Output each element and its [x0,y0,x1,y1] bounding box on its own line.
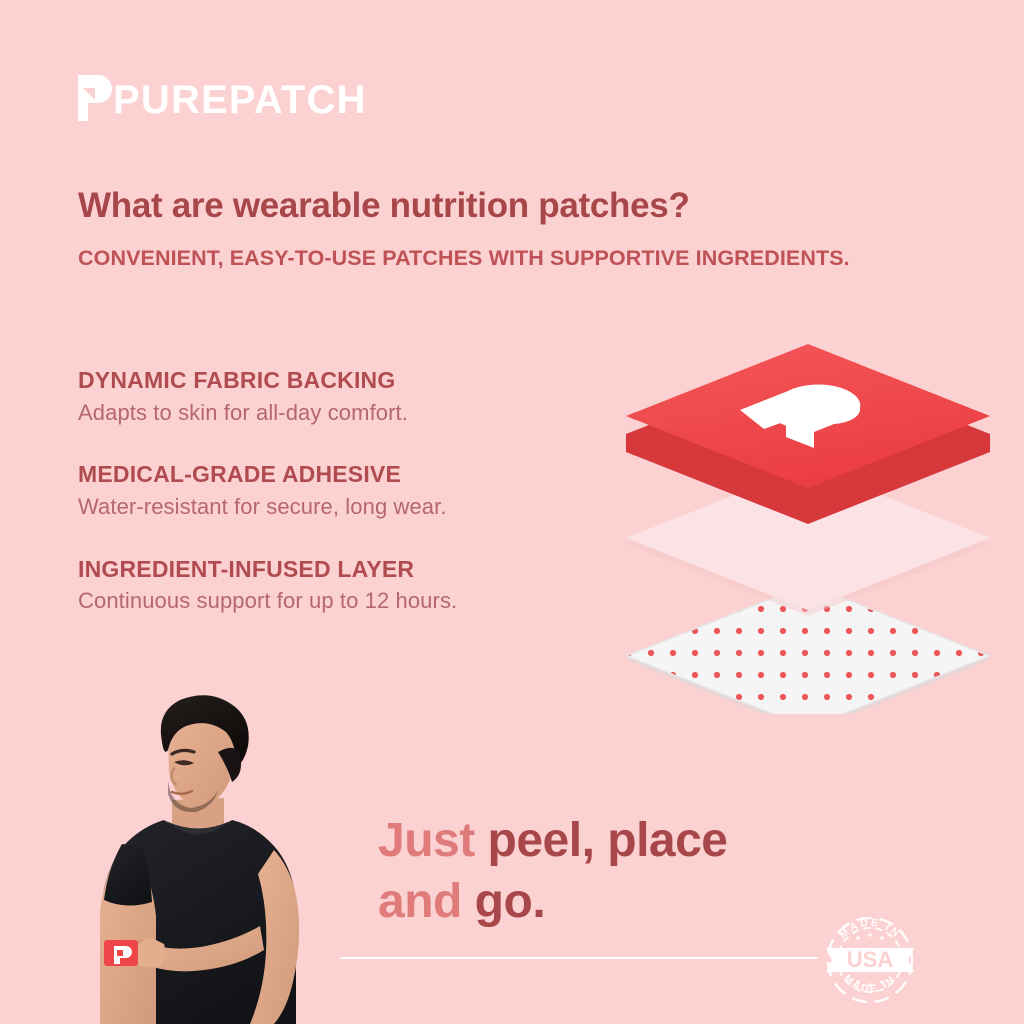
feature-description: Water-resistant for secure, long wear. [78,493,598,522]
tagline-go: go. [475,875,545,928]
infographic-canvas: PUREPATCH What are wearable nutrition pa… [0,0,1024,1024]
feature-description: Continuous support for up to 12 hours. [78,587,598,616]
page-title: What are wearable nutrition patches? [78,186,690,225]
p-notch-icon [78,75,112,126]
fabric-backing-layer [626,344,990,524]
lifestyle-photo [68,694,368,1024]
badge-bottom-text: MADE IN [841,972,898,995]
exploded-patch-layers [618,334,1008,714]
made-in-usa-badge: USA MADE IN MADE IN [818,908,922,1012]
page-subtitle: CONVENIENT, EASY-TO-USE PATCHES WITH SUP… [78,246,850,272]
feature-list: DYNAMIC FABRIC BACKING Adapts to skin fo… [78,366,598,616]
feature-description: Adapts to skin for all-day comfort. [78,399,598,428]
feature-title: INGREDIENT-INFUSED LAYER [78,555,598,584]
tagline-line-2: and go. [378,871,728,932]
brand-name: PUREPATCH [113,80,367,120]
list-item: INGREDIENT-INFUSED LAYER Continuous supp… [78,555,598,616]
patch-on-arm [104,940,138,966]
list-item: MEDICAL-GRADE ADHESIVE Water-resistant f… [78,460,598,521]
divider [340,957,818,959]
tagline-peel-place: peel, place [488,814,728,867]
brand-logo: PUREPATCH [78,76,367,124]
tagline-just: Just [378,814,488,867]
list-item: DYNAMIC FABRIC BACKING Adapts to skin fo… [78,366,598,427]
tagline-and: and [378,875,475,928]
tagline-line-1: Just peel, place [378,810,728,871]
feature-title: DYNAMIC FABRIC BACKING [78,366,598,395]
svg-text:MADE IN: MADE IN [841,972,898,995]
feature-title: MEDICAL-GRADE ADHESIVE [78,460,598,489]
tagline: Just peel, place and go. [378,810,728,933]
badge-center-text: USA [847,947,894,972]
